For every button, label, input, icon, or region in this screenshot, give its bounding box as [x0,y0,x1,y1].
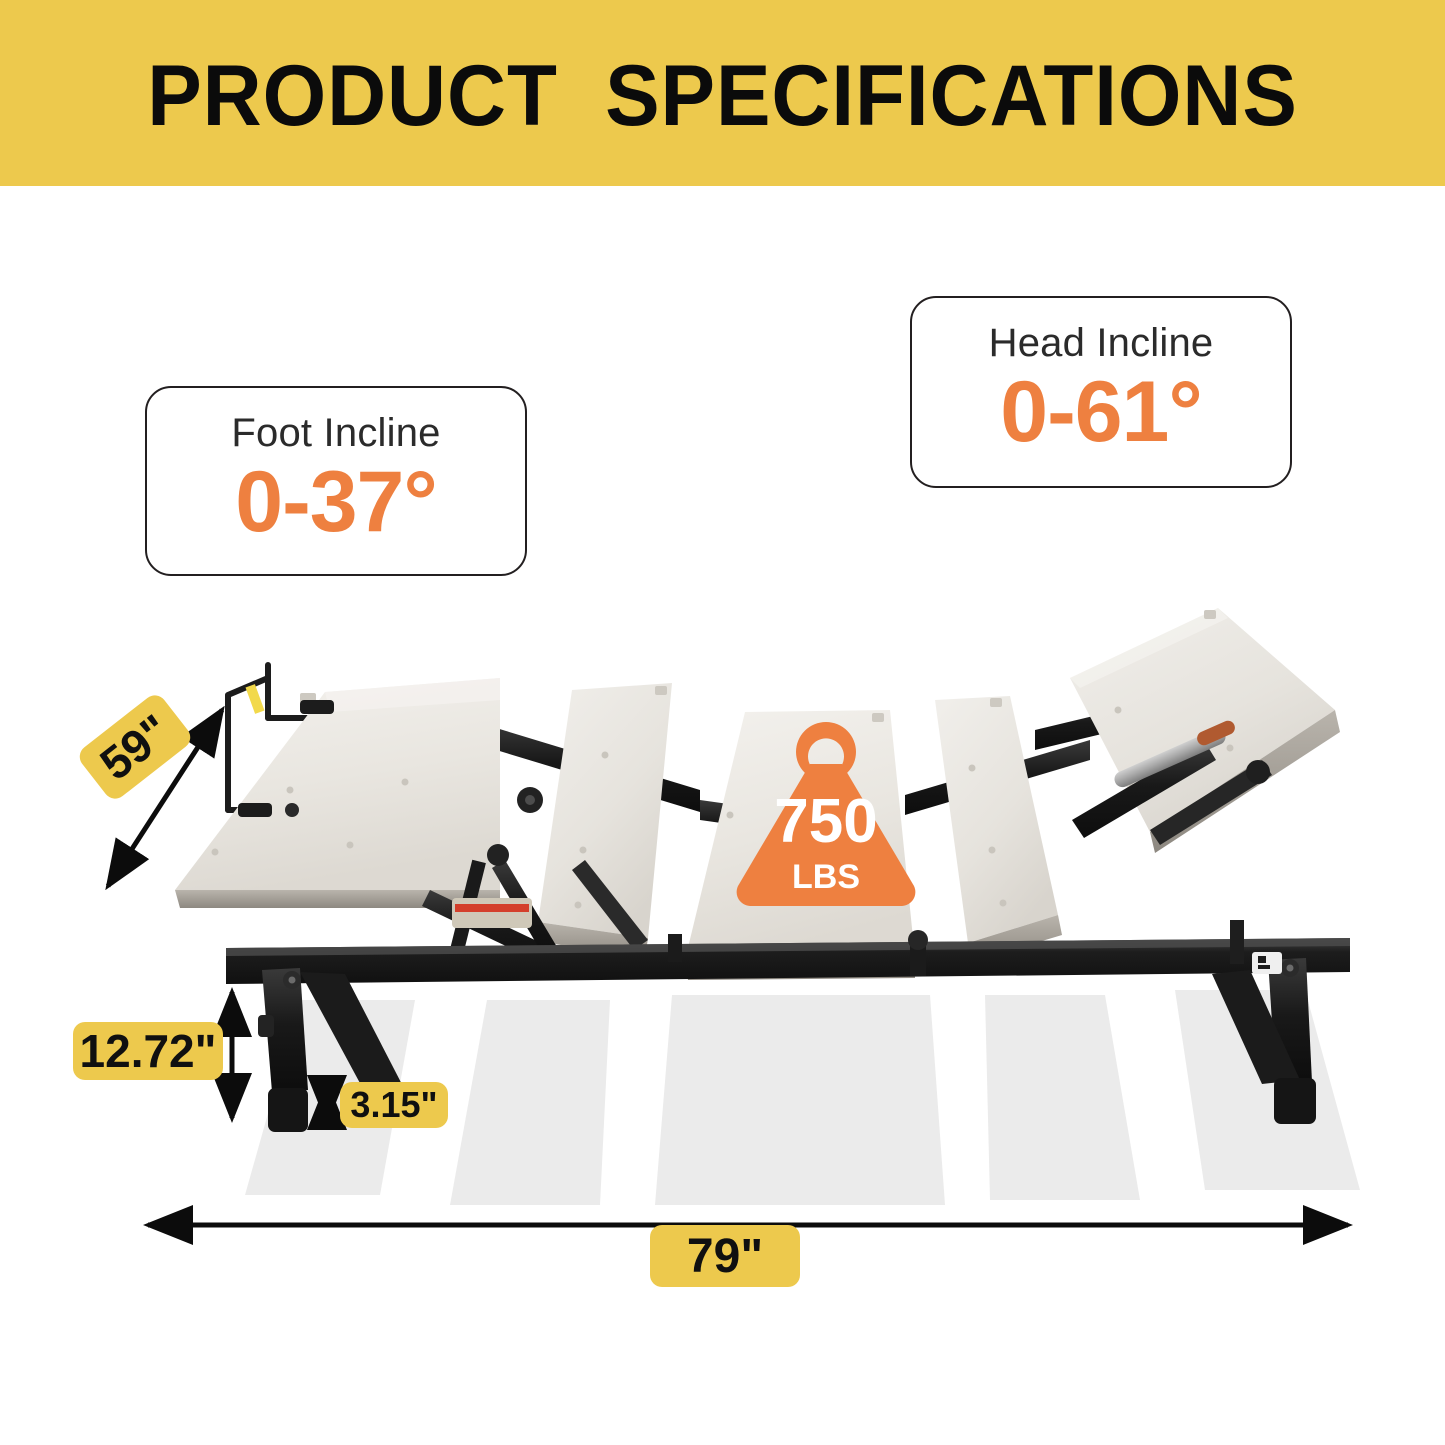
weight-value: 750 [774,787,877,856]
dimension-badge-frame-height: 12.72" [73,1022,223,1080]
weight-capacity-badge: 750 LBS [718,718,934,908]
specification-infographic: PRODUCT SPECIFICATIONS [0,0,1445,1445]
dimension-badge-length: 79" [650,1225,800,1287]
weight-unit: LBS [792,858,860,896]
dimension-badge-leg-height: 3.15" [340,1082,448,1128]
